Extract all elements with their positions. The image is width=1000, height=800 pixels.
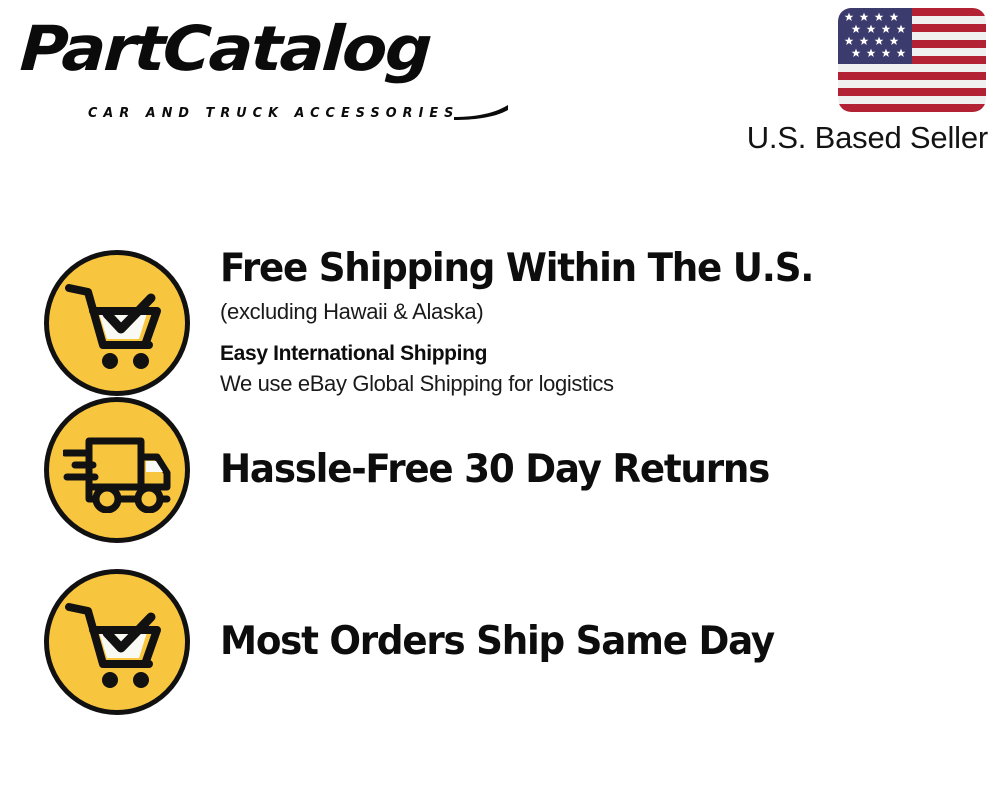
us-flag-svg — [838, 8, 986, 112]
feature-subtext-note: We use eBay Global Shipping for logistic… — [220, 370, 980, 398]
brand-wordmark: PartCatalog — [19, 18, 432, 80]
us-flag-icon — [838, 8, 986, 112]
feature-row: Most Orders Ship Same Day — [0, 567, 1000, 717]
us-based-seller-label: U.S. Based Seller — [718, 121, 988, 155]
feature-row: Hassle-Free 30 Day Returns — [0, 395, 1000, 545]
feature-subtext: (excluding Hawaii & Alaska) — [220, 298, 980, 326]
feature-subtext-strong: Easy International Shipping — [220, 341, 980, 367]
cart-check-glyph — [65, 277, 169, 369]
us-based-seller-badge: U.S. Based Seller — [718, 8, 988, 155]
promo-banner: PartCatalog CAR AND TRUCK ACCESSORIES — [0, 0, 1000, 800]
brand-logo[interactable]: PartCatalog CAR AND TRUCK ACCESSORIES — [22, 18, 492, 118]
brand-tagline: CAR AND TRUCK ACCESSORIES — [88, 106, 459, 121]
feature-headline: Hassle-Free 30 Day Returns — [220, 448, 946, 492]
feature-text-block: Most Orders Ship Same Day — [220, 620, 1000, 664]
feature-headline: Free Shipping Within The U.S. — [220, 247, 946, 291]
logo-swoosh-icon — [452, 104, 510, 120]
feature-headline: Most Orders Ship Same Day — [220, 620, 946, 664]
delivery-truck-glyph — [63, 427, 171, 513]
fast-delivery-truck-icon — [44, 397, 190, 543]
cart-check-glyph — [65, 596, 169, 688]
feature-text-block: Hassle-Free 30 Day Returns — [220, 448, 1000, 492]
feature-row: Free Shipping Within The U.S. (excluding… — [0, 225, 1000, 420]
cart-check-icon — [44, 250, 190, 396]
feature-text-block: Free Shipping Within The U.S. (excluding… — [220, 247, 1000, 398]
cart-check-icon — [44, 569, 190, 715]
